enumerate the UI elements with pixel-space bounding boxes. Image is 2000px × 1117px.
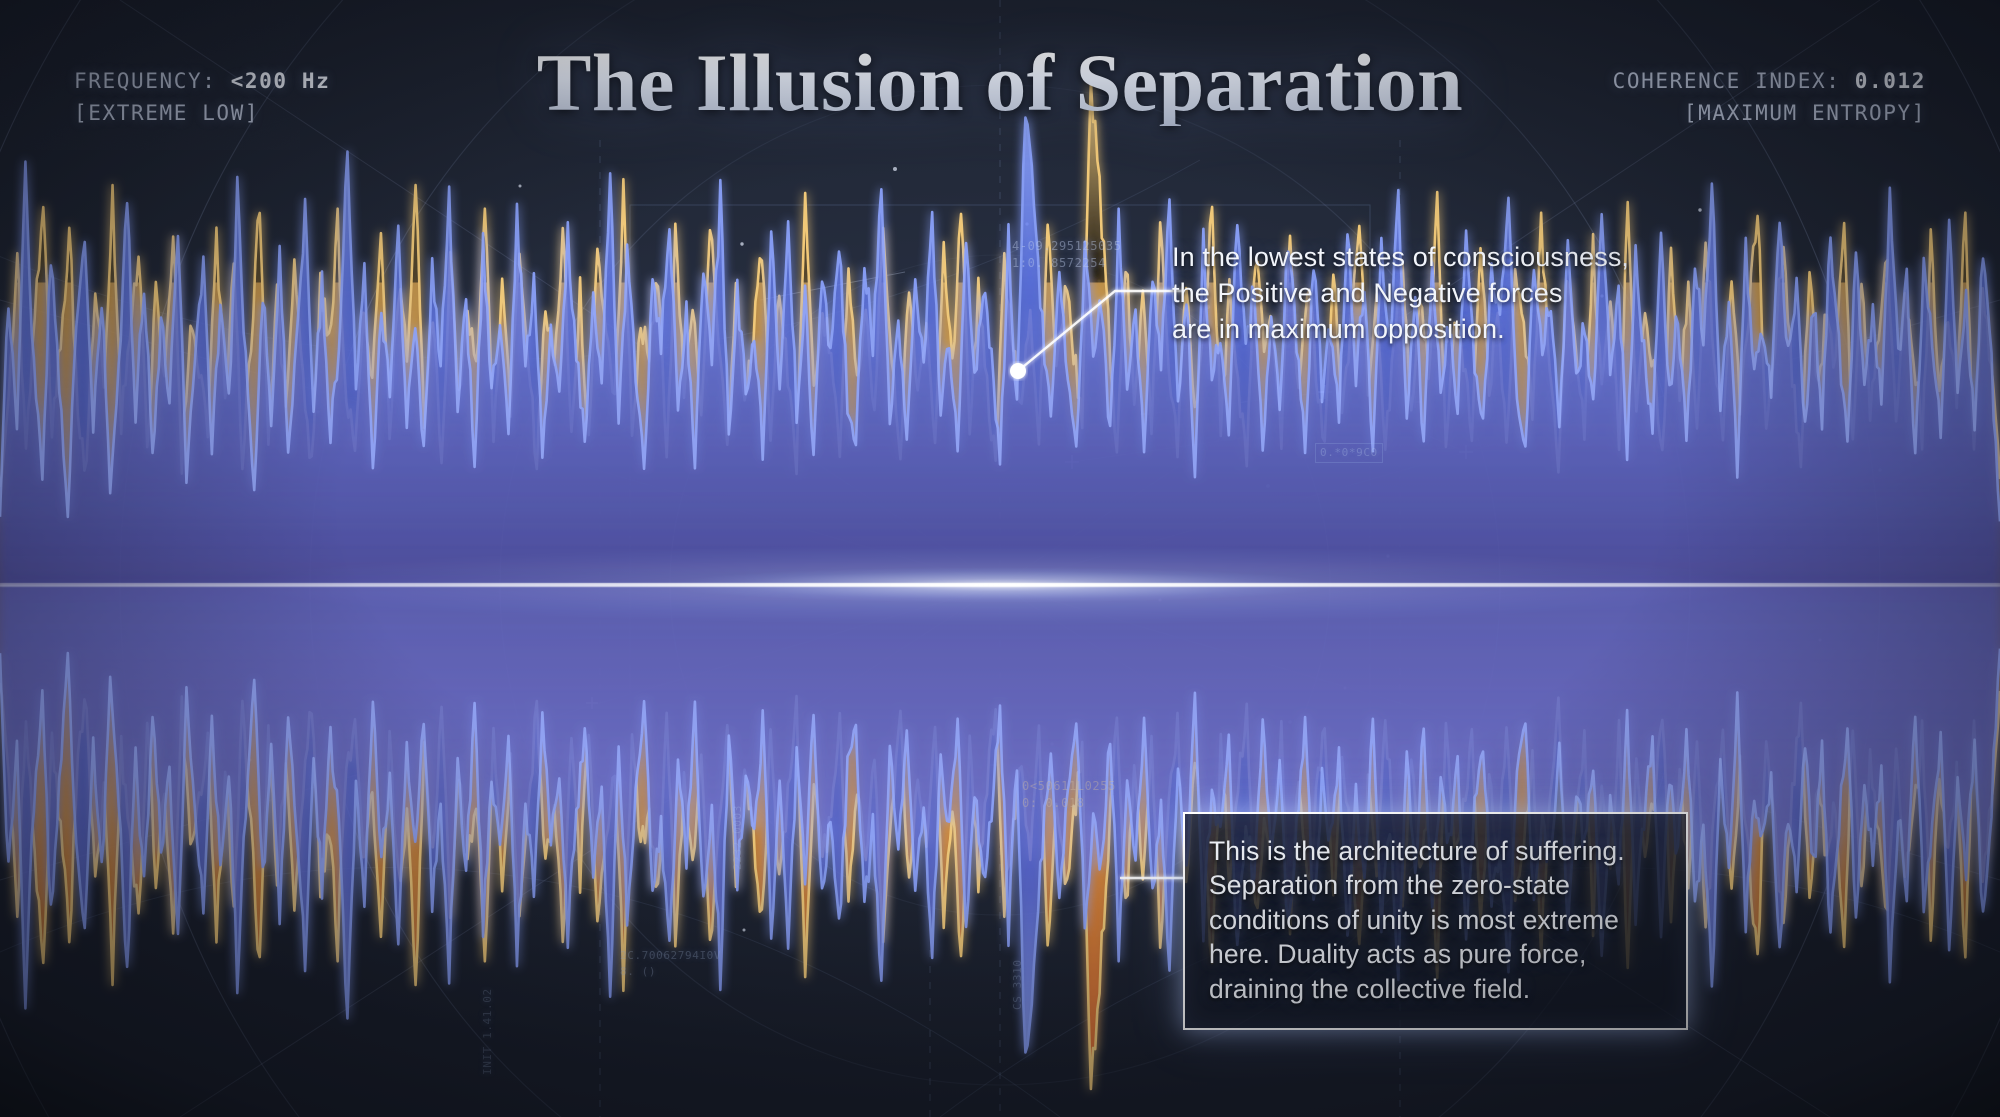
telemetry-tag-right: 0.*0*9C0 <box>1315 443 1383 463</box>
telemetry-lower-trough: 0<50611L0255 0: 0.018 <box>1022 778 1116 813</box>
annotation-architecture-of-suffering: This is the architecture of suffering. S… <box>1209 834 1664 1006</box>
telemetry-vertical-a: CS 3310 <box>1010 959 1026 1010</box>
background-field <box>0 0 2000 1117</box>
visualization-canvas: FREQUENCY: <200 Hz [EXTREME LOW] COHEREN… <box>0 0 2000 1117</box>
annotation-architecture-of-suffering-box: This is the architecture of suffering. S… <box>1183 812 1688 1030</box>
telemetry-lower-left: 2C.70062794I0V 8. () <box>620 948 721 980</box>
telemetry-vertical-c: INIT 1.41.02 <box>480 988 496 1075</box>
telemetry-vertical-b: 2232 0003 <box>730 805 746 870</box>
page-title: The Illusion of Separation <box>0 40 2000 126</box>
annotation-lowest-states: In the lowest states of consciousness, t… <box>1172 240 1629 348</box>
telemetry-upper-peak: 4-09.295125035 1:0. 8572254 <box>1012 238 1122 273</box>
